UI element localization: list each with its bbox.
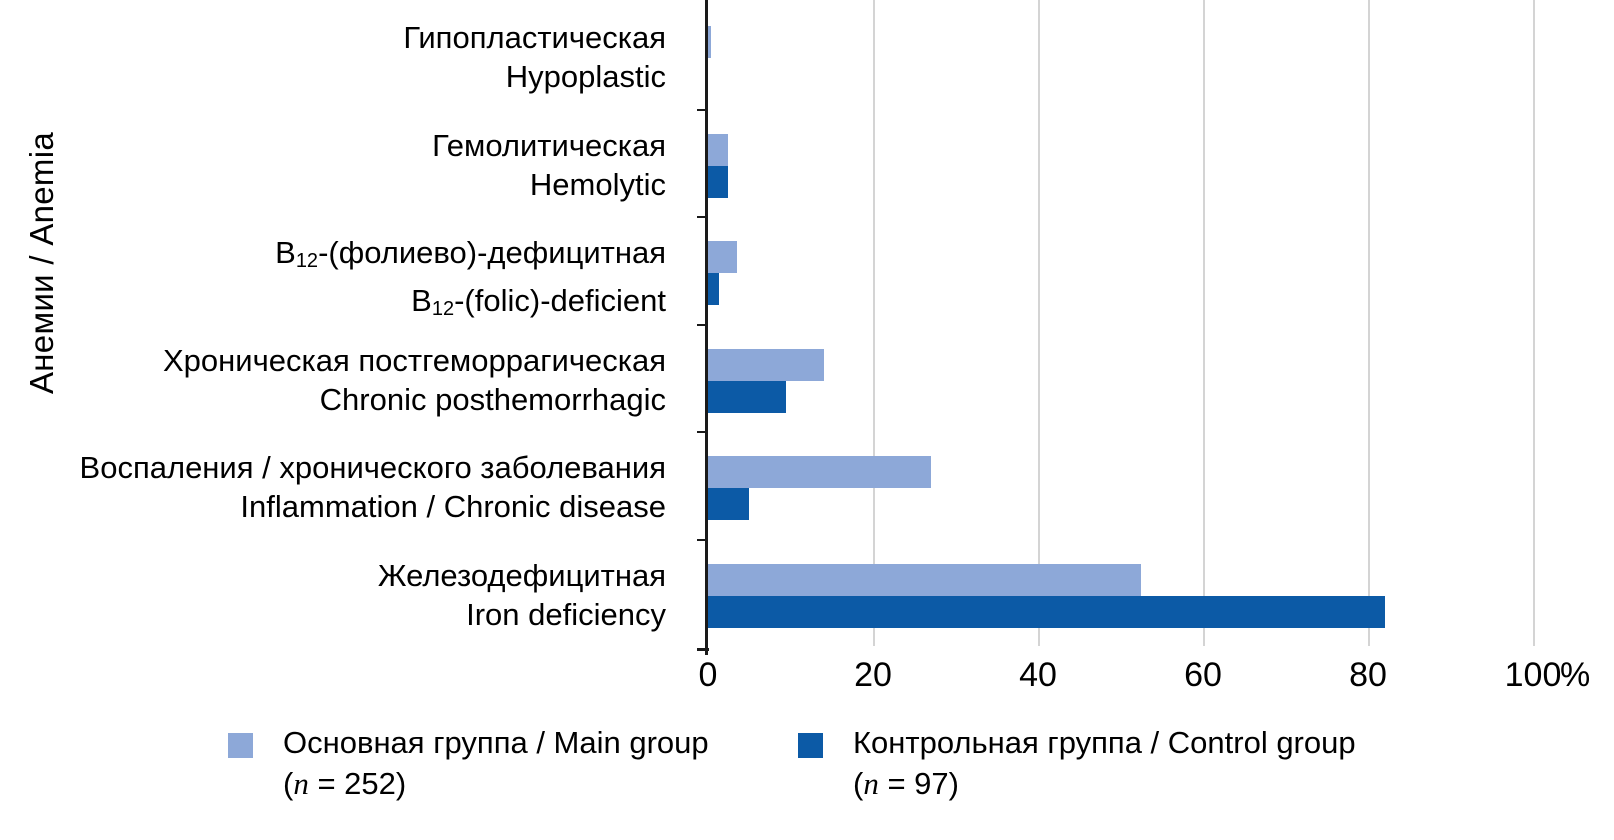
- bar-main-group[interactable]: [708, 26, 711, 58]
- x-tick-20: 20: [813, 651, 933, 699]
- category-label: ЖелезодефицитнаяIron deficiency: [6, 556, 666, 634]
- bar-main-group[interactable]: [708, 134, 728, 166]
- legend-label-control-group: Контрольная группа / Control group: [853, 722, 1356, 763]
- category-tick: [697, 109, 708, 111]
- legend: Основная группа / Main group (n = 252) К…: [0, 722, 1614, 832]
- bar-control-group[interactable]: [708, 596, 1385, 628]
- gridline-60: [1203, 0, 1205, 646]
- x-tick-60: 60: [1143, 651, 1263, 699]
- bar-main-group[interactable]: [708, 241, 737, 273]
- category-tick: [697, 539, 708, 541]
- bar-control-group[interactable]: [708, 273, 719, 305]
- bar-control-group[interactable]: [708, 381, 786, 413]
- bar-main-group[interactable]: [708, 564, 1141, 596]
- x-tick-40: 40: [978, 651, 1098, 699]
- legend-swatch-control-group: [798, 733, 823, 758]
- category-label: Воспаления / хронического заболеванияInf…: [6, 448, 666, 526]
- bar-control-group[interactable]: [708, 166, 728, 198]
- category-tick: [697, 431, 708, 433]
- gridline-40: [1038, 0, 1040, 646]
- category-label: B12-(фолиево)-дефицитнаяB12-(folic)-defi…: [6, 233, 666, 329]
- x-axis-unit-label: %: [1560, 651, 1590, 699]
- legend-swatch-main-group: [228, 733, 253, 758]
- legend-label-main-group: Основная группа / Main group: [283, 722, 709, 763]
- bar-main-group[interactable]: [708, 349, 824, 381]
- bar-main-group[interactable]: [708, 456, 931, 488]
- y-axis-line: [705, 0, 708, 655]
- legend-n-control-group: (n = 97): [853, 763, 959, 804]
- x-tick-80: 80: [1308, 651, 1428, 699]
- x-tick-0: 0: [648, 651, 768, 699]
- category-label: ГемолитическаяHemolytic: [6, 126, 666, 204]
- x-axis-tick-labels: 020406080100: [0, 651, 1614, 711]
- anemia-bar-chart: Анемии / Anemia ГипопластическаяHypoplas…: [0, 0, 1614, 840]
- category-label: Хроническая постгеморрагическаяChronic p…: [6, 341, 666, 419]
- category-tick: [697, 324, 708, 326]
- category-label: ГипопластическаяHypoplastic: [6, 18, 666, 96]
- category-tick: [697, 216, 708, 218]
- gridline-20: [873, 0, 875, 646]
- legend-n-main-group: (n = 252): [283, 763, 406, 804]
- bar-control-group[interactable]: [708, 488, 749, 520]
- gridline-80: [1368, 0, 1370, 646]
- gridline-100: [1533, 0, 1535, 646]
